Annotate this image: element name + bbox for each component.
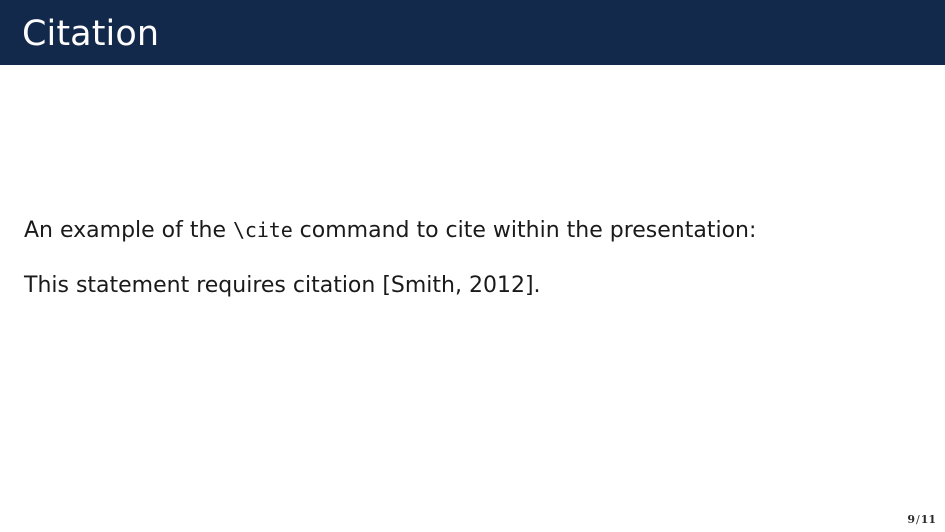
paragraph-intro-text-after: command to cite within the presentation:	[293, 218, 757, 243]
paragraph-intro-text-before: An example of the	[24, 218, 233, 243]
cite-command-code: \cite	[233, 218, 293, 242]
presentation-slide: Citation An example of the \cite command…	[0, 0, 945, 532]
slide-body: An example of the \cite command to cite …	[0, 65, 945, 495]
page-number-current: 9	[907, 513, 915, 526]
slide-title: Citation	[22, 12, 159, 56]
slide-header-bar: Citation	[0, 0, 945, 65]
paragraph-citation-text: This statement requires citation [Smith,…	[24, 273, 541, 298]
paragraph-intro: An example of the \cite command to cite …	[24, 216, 756, 245]
page-number: 9/11	[907, 513, 936, 526]
page-number-total: 11	[921, 513, 936, 526]
paragraph-citation-example: This statement requires citation [Smith,…	[24, 272, 541, 300]
